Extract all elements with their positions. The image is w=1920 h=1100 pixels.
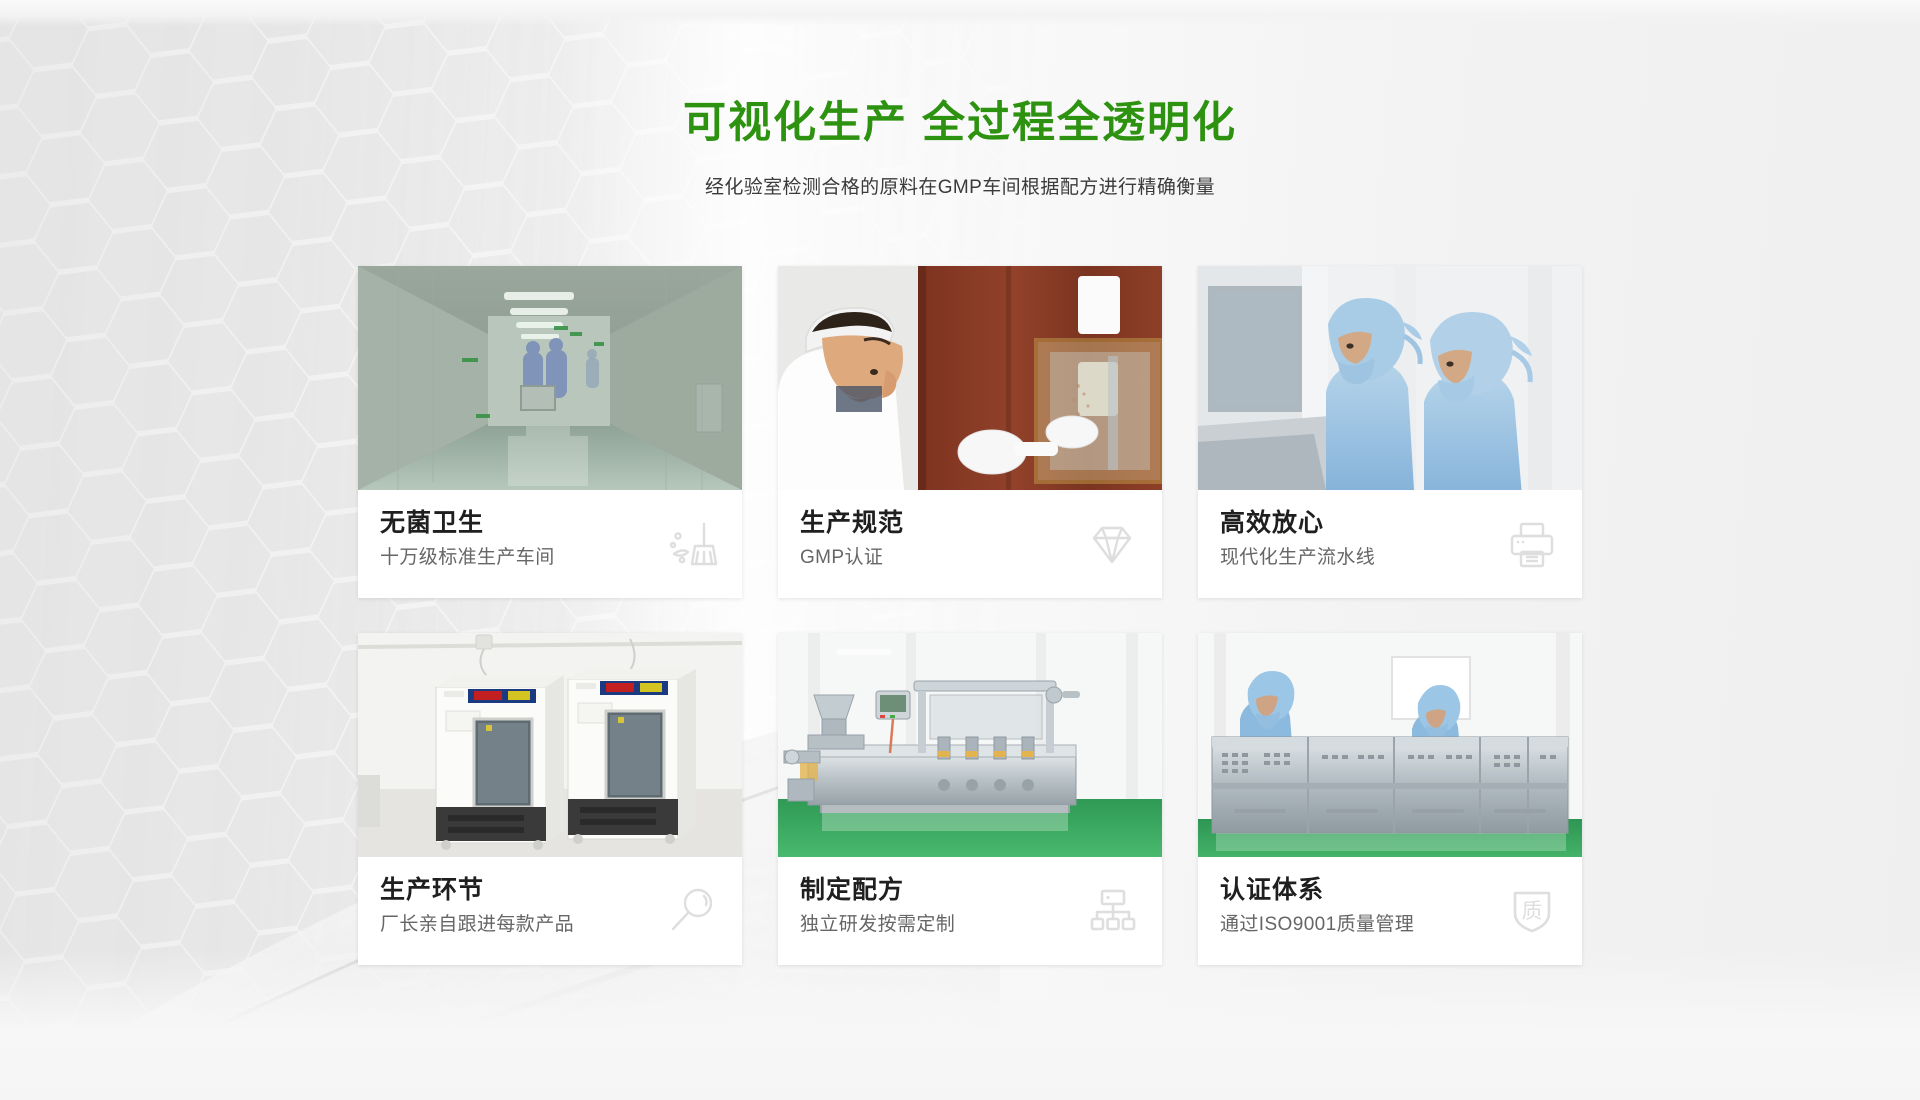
feature-card[interactable]: 生产规范 GMP认证 (778, 266, 1162, 598)
diamond-icon (1084, 516, 1140, 572)
feature-card-body: 制定配方 独立研发按需定制 (778, 857, 1162, 965)
feature-card-body: 认证体系 通过ISO9001质量管理 质 (1198, 857, 1582, 965)
cleanroom-corridor-photo (358, 266, 742, 490)
feature-card[interactable]: 无菌卫生 十万级标准生产车间 (358, 266, 742, 598)
page-title: 可视化生产 全过程全透明化 (0, 100, 1920, 147)
incubator-cabinets-photo (358, 633, 742, 857)
cleanroom-workers-photo (1198, 266, 1582, 490)
feature-card-body: 无菌卫生 十万级标准生产车间 (358, 490, 742, 598)
feature-card[interactable]: 认证体系 通过ISO9001质量管理 质 (1198, 633, 1582, 965)
feature-card[interactable]: 制定配方 独立研发按需定制 (778, 633, 1162, 965)
feature-card-body: 生产环节 厂长亲自跟进每款产品 (358, 857, 742, 965)
sitemap-icon (1084, 883, 1140, 939)
filling-machine-photo (778, 633, 1162, 857)
broom-icon (664, 516, 720, 572)
page-subtitle: 经化验室检测合格的原料在GMP车间根据配方进行精确衡量 (0, 172, 1920, 199)
shield-icon-glyph: 质 (1522, 900, 1543, 923)
production-line-photo (1198, 633, 1582, 857)
printer-icon (1504, 516, 1560, 572)
feature-card-grid: 无菌卫生 十万级标准生产车间 (358, 266, 1570, 965)
feature-card[interactable]: 高效放心 现代化生产流水线 (1198, 266, 1582, 598)
feature-card[interactable]: 生产环节 厂长亲自跟进每款产品 (358, 633, 742, 965)
page-content: 可视化生产 全过程全透明化 经化验室检测合格的原料在GMP车间根据配方进行精确衡… (0, 0, 1920, 1100)
magnifier-icon (664, 883, 720, 939)
feature-card-body: 高效放心 现代化生产流水线 (1198, 490, 1582, 598)
lab-weighing-photo (778, 266, 1162, 490)
shield-quality-icon: 质 (1504, 883, 1560, 939)
feature-card-body: 生产规范 GMP认证 (778, 490, 1162, 598)
